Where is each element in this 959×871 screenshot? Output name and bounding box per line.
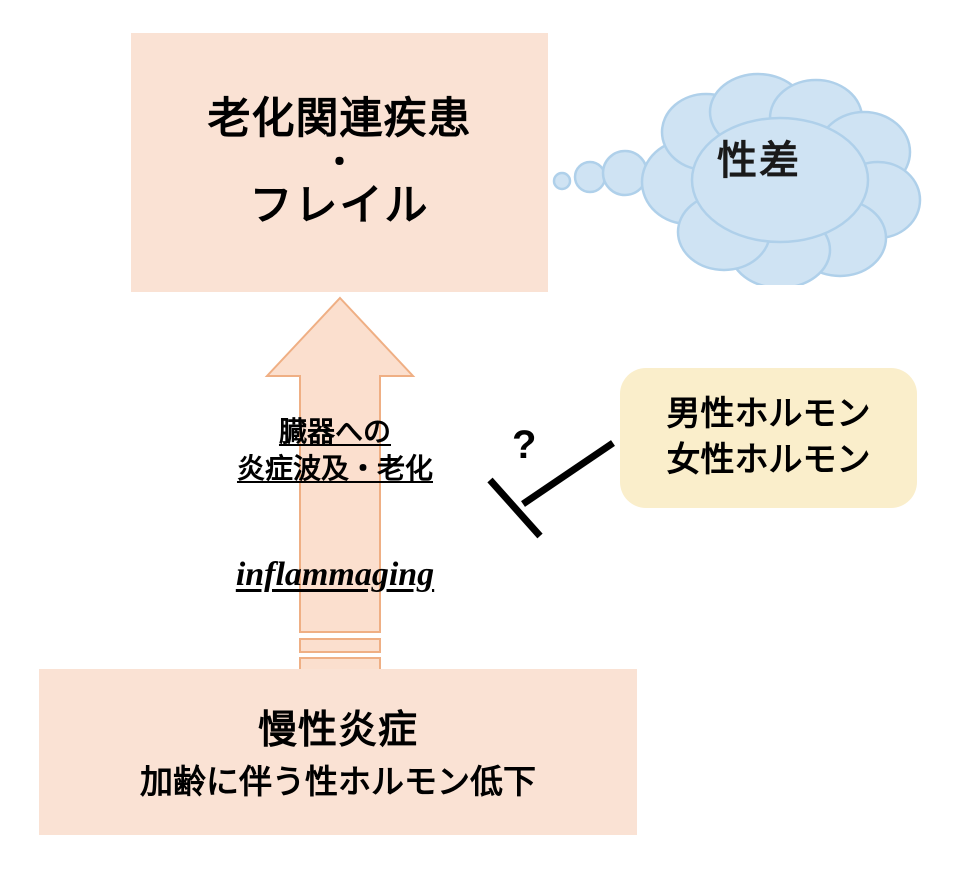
spread-label-line-1: 臓器への <box>170 413 500 450</box>
disease-box-separator-dot: ・ <box>323 146 357 180</box>
sex-hormone-box: 男性ホルモン 女性ホルモン <box>620 368 917 508</box>
inhibition-crossbar <box>490 480 540 536</box>
thought-cloud-label: 性差 <box>684 128 834 186</box>
thought-dot-large <box>603 151 647 195</box>
diagram-canvas: 老化関連疾患 ・ フレイル 性差 <box>0 0 959 871</box>
thought-dot-small <box>554 173 570 189</box>
spread-label-line-2: 炎症波及・老化 <box>170 450 500 487</box>
thought-dot-medium <box>575 162 605 192</box>
hormone-box-line-1: 男性ホルモン <box>667 392 871 438</box>
hormone-box-line-2: 女性ホルモン <box>667 438 871 484</box>
organ-inflammation-spread-label: 臓器への 炎症波及・老化 <box>170 413 500 487</box>
disease-box-line-main: 老化関連疾患 <box>208 95 472 143</box>
chronic-inflammation-box: 慢性炎症 加齢に伴う性ホルモン低下 <box>39 669 637 835</box>
inhibition-question-mark: ? <box>512 423 536 468</box>
disease-box-line-sub: フレイル <box>250 182 430 230</box>
inflammaging-label: inflammaging <box>170 556 500 594</box>
inflammation-box-line-sub: 加齢に伴う性ホルモン低下 <box>140 761 536 802</box>
inhibition-stem <box>523 443 613 504</box>
old-age-related-disease-box: 老化関連疾患 ・ フレイル <box>131 33 548 292</box>
arrow-base-segment-1 <box>300 639 380 652</box>
inflammation-box-line-main: 慢性炎症 <box>258 708 418 755</box>
hormone-inhibition-connector <box>468 408 628 553</box>
